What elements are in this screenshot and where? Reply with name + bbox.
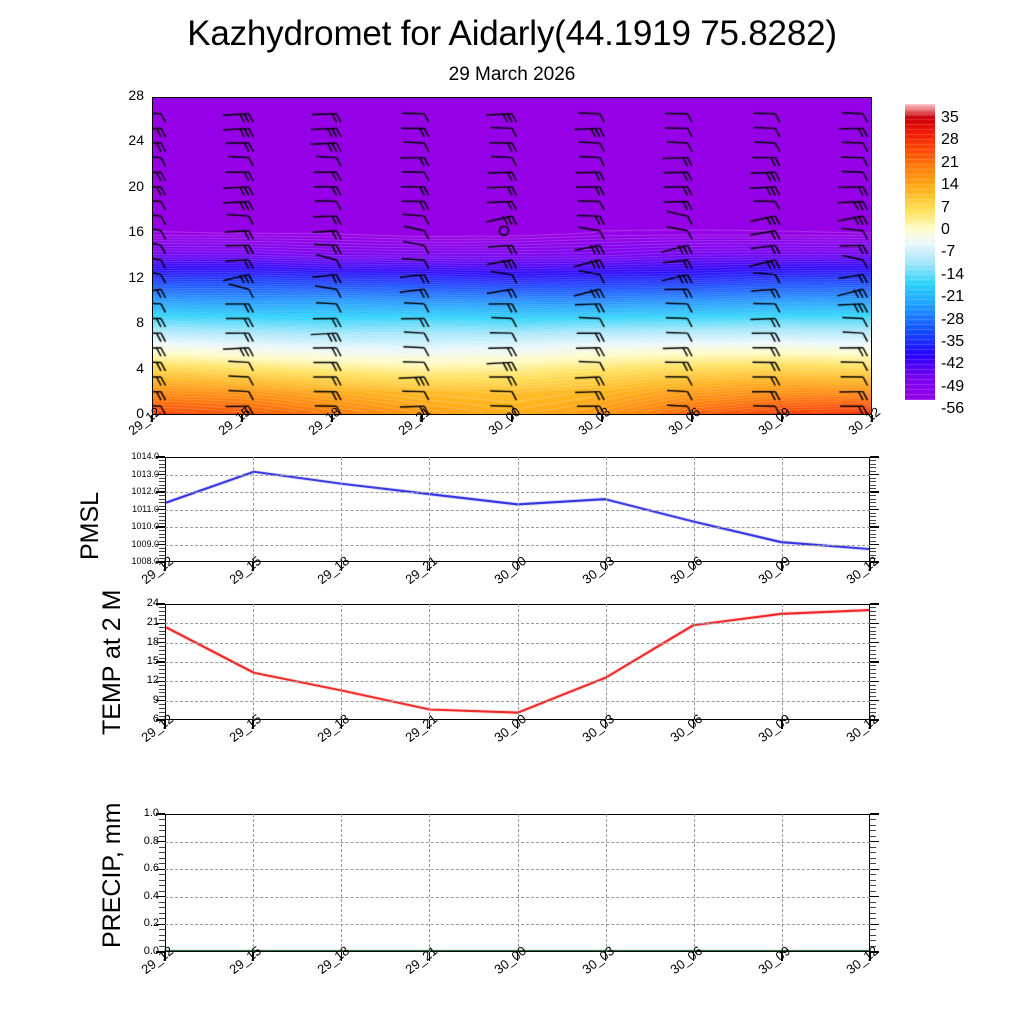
temp-at-2m-y-minor-tick — [870, 646, 876, 647]
pmsl-y-minor-tick — [159, 460, 165, 461]
temp-at-2m-y-minor-tick — [870, 611, 876, 612]
temp-at-2m-y-tick — [870, 642, 879, 643]
colorbar-tick-label: -49 — [941, 379, 964, 395]
pmsl-y-minor-tick — [870, 506, 876, 507]
pmsl-y-minor-tick — [870, 464, 876, 465]
pmsl-y-tick — [156, 456, 165, 457]
temp-at-2m-y-minor-tick — [159, 692, 165, 693]
pmsl-y-tick — [156, 509, 165, 510]
precip-y-minor-tick — [159, 819, 165, 820]
temp-at-2m-y-minor-tick — [870, 692, 876, 693]
precip-gridline-v — [694, 814, 695, 952]
pmsl-y-minor-tick — [159, 506, 165, 507]
precip-y-minor-tick — [159, 935, 165, 936]
pmsl-y-minor-tick — [870, 537, 876, 538]
temp-at-2m-y-minor-tick — [159, 658, 165, 659]
pmsl-y-minor-tick — [870, 467, 876, 468]
pmsl-y-tick — [870, 491, 879, 492]
pmsl-y-minor-tick — [159, 537, 165, 538]
temp-at-2m-y-minor-tick — [870, 658, 876, 659]
colorbar-tick-label: -28 — [941, 312, 964, 328]
pmsl-y-minor-tick — [870, 499, 876, 500]
pmsl-gridline-v — [253, 457, 254, 562]
temp-at-2m-y-minor-tick — [870, 708, 876, 709]
pmsl-y-tick-label: 1011.0 — [119, 504, 159, 515]
pmsl-y-minor-tick — [870, 485, 876, 486]
precip-y-tick — [870, 896, 879, 897]
colorbar-tick-label: 21 — [941, 155, 959, 171]
cross-section-frame — [152, 97, 872, 415]
pmsl-y-tick-label: 1012.0 — [119, 486, 159, 497]
precip-gridline-v — [518, 814, 519, 952]
precip-gridline-v — [429, 814, 430, 952]
cross-section-y-tick-label: 12 — [108, 272, 144, 283]
temp-at-2m-y-tick — [156, 700, 165, 701]
temp-at-2m-y-minor-tick — [159, 673, 165, 674]
colorbar-tick-label: -35 — [941, 334, 964, 350]
precip-y-tick — [870, 869, 879, 870]
pmsl-y-tick — [870, 526, 879, 527]
precip-y-minor-tick — [159, 940, 165, 941]
temp-at-2m-y-minor-tick — [159, 634, 165, 635]
temp-at-2m-y-minor-tick — [159, 708, 165, 709]
pmsl-y-minor-tick — [159, 530, 165, 531]
meteogram-page: Kazhydromet for Aidarly(44.1919 75.8282)… — [0, 0, 1024, 1024]
precip-y-tick — [156, 896, 165, 897]
pmsl-y-minor-tick — [159, 523, 165, 524]
precip-y-minor-tick — [870, 825, 876, 826]
pmsl-y-tick — [870, 544, 879, 545]
precip-y-minor-tick — [159, 907, 165, 908]
temp-at-2m-y-minor-tick — [159, 665, 165, 666]
temp-at-2m-y-minor-tick — [870, 689, 876, 690]
temp-at-2m-y-minor-tick — [870, 631, 876, 632]
pmsl-y-tick — [156, 544, 165, 545]
temp-axis-title: TEMP at 2 M — [100, 590, 125, 735]
pmsl-y-minor-tick — [159, 513, 165, 514]
pmsl-gridline-v — [694, 457, 695, 562]
precip-gridline-v — [253, 814, 254, 952]
precip-y-minor-tick — [870, 863, 876, 864]
precip-y-minor-tick — [159, 929, 165, 930]
pmsl-y-minor-tick — [870, 516, 876, 517]
temp-at-2m-y-minor-tick — [159, 704, 165, 705]
precip-axis-title: PRECIP, mm — [100, 803, 125, 948]
pmsl-y-minor-tick — [159, 464, 165, 465]
pmsl-y-minor-tick — [870, 478, 876, 479]
precip-y-minor-tick — [870, 907, 876, 908]
temp-at-2m-y-minor-tick — [159, 615, 165, 616]
pmsl-y-tick-label: 1014.0 — [119, 451, 159, 462]
pmsl-y-tick — [156, 526, 165, 527]
precip-y-minor-tick — [870, 891, 876, 892]
precip-gridline-v — [341, 814, 342, 952]
temp-at-2m-y-minor-tick — [159, 689, 165, 690]
colorbar-tick-label: -56 — [941, 401, 964, 417]
temp-at-2m-y-tick — [870, 661, 879, 662]
pmsl-y-minor-tick — [159, 478, 165, 479]
temp-at-2m-y-tick — [870, 700, 879, 701]
temp-at-2m-y-tick — [870, 681, 879, 682]
colorbar-tick-label: 14 — [941, 177, 959, 193]
pmsl-y-minor-tick — [159, 548, 165, 549]
pmsl-y-tick-label: 1009.0 — [119, 539, 159, 550]
pmsl-y-minor-tick — [870, 460, 876, 461]
temp-at-2m-y-minor-tick — [159, 696, 165, 697]
temp-at-2m-y-minor-tick — [159, 631, 165, 632]
temp-at-2m-y-minor-tick — [870, 619, 876, 620]
cross-section-y-tick-label: 24 — [108, 135, 144, 146]
pmsl-y-minor-tick — [159, 541, 165, 542]
cross-section-y-tick-label: 28 — [108, 90, 144, 101]
temp-at-2m-gridline-v — [253, 604, 254, 720]
precip-gridline-v — [782, 814, 783, 952]
pmsl-y-tick — [156, 491, 165, 492]
precip-y-minor-tick — [159, 825, 165, 826]
temp-at-2m-gridline-v — [341, 604, 342, 720]
cross-section-y-tick-label: 16 — [108, 226, 144, 237]
precip-y-minor-tick — [159, 858, 165, 859]
temp-at-2m-y-tick — [870, 623, 879, 624]
precip-y-minor-tick — [159, 891, 165, 892]
precip-y-minor-tick — [159, 880, 165, 881]
pmsl-y-minor-tick — [159, 516, 165, 517]
precip-y-minor-tick — [870, 880, 876, 881]
precip-y-minor-tick — [159, 852, 165, 853]
pmsl-y-minor-tick — [159, 551, 165, 552]
precip-y-minor-tick — [159, 902, 165, 903]
pmsl-y-minor-tick — [870, 548, 876, 549]
precip-y-minor-tick — [870, 918, 876, 919]
temp-at-2m-gridline-v — [429, 604, 430, 720]
pmsl-y-minor-tick — [870, 502, 876, 503]
temp-at-2m-y-minor-tick — [870, 654, 876, 655]
temp-at-2m-y-minor-tick — [159, 619, 165, 620]
pmsl-y-tick — [870, 509, 879, 510]
pmsl-y-minor-tick — [870, 530, 876, 531]
precip-gridline-v — [606, 814, 607, 952]
temp-at-2m-y-minor-tick — [159, 677, 165, 678]
temp-at-2m-y-minor-tick — [870, 673, 876, 674]
temp-at-2m-y-minor-tick — [870, 607, 876, 608]
pmsl-y-minor-tick — [870, 523, 876, 524]
pmsl-axis-title: PMSL — [78, 492, 103, 560]
precip-y-tick — [870, 813, 879, 814]
pmsl-y-minor-tick — [159, 502, 165, 503]
temp-at-2m-gridline-v — [606, 604, 607, 720]
precip-y-minor-tick — [870, 819, 876, 820]
precip-y-minor-tick — [870, 874, 876, 875]
pmsl-gridline-v — [782, 457, 783, 562]
pmsl-gridline-v — [429, 457, 430, 562]
pmsl-y-tick — [870, 474, 879, 475]
precip-y-minor-tick — [159, 836, 165, 837]
precip-y-minor-tick — [159, 885, 165, 886]
pmsl-y-minor-tick — [159, 495, 165, 496]
precip-y-minor-tick — [870, 830, 876, 831]
colorbar-tick-label: -14 — [941, 267, 964, 283]
colorbar — [905, 104, 935, 400]
cross-section-y-tick-label: 8 — [108, 317, 144, 328]
cross-section-y-tick-label: 4 — [108, 363, 144, 374]
precip-y-tick — [156, 813, 165, 814]
temp-at-2m-y-minor-tick — [870, 634, 876, 635]
cross-section-y-tick-label: 20 — [108, 181, 144, 192]
temp-at-2m-y-minor-tick — [159, 654, 165, 655]
temp-at-2m-y-tick — [156, 661, 165, 662]
colorbar-tick-label: -21 — [941, 289, 964, 305]
pmsl-y-minor-tick — [870, 541, 876, 542]
precip-y-minor-tick — [870, 913, 876, 914]
precip-y-minor-tick — [159, 874, 165, 875]
precip-y-minor-tick — [870, 935, 876, 936]
precip-y-tick — [870, 841, 879, 842]
page-title: Kazhydromet for Aidarly(44.1919 75.8282) — [0, 14, 1024, 54]
temp-at-2m-y-minor-tick — [159, 646, 165, 647]
precip-y-minor-tick — [870, 902, 876, 903]
pmsl-y-minor-tick — [159, 520, 165, 521]
temp-at-2m-y-minor-tick — [870, 685, 876, 686]
colorbar-tick-label: 0 — [941, 222, 950, 238]
temp-at-2m-y-minor-tick — [870, 638, 876, 639]
temp-at-2m-y-minor-tick — [870, 650, 876, 651]
pmsl-y-minor-tick — [159, 485, 165, 486]
temp-at-2m-y-minor-tick — [870, 627, 876, 628]
temp-at-2m-y-tick — [156, 623, 165, 624]
pmsl-y-minor-tick — [870, 513, 876, 514]
temp-at-2m-gridline-v — [694, 604, 695, 720]
colorbar-tick-label: -7 — [941, 244, 955, 260]
pmsl-y-tick — [156, 474, 165, 475]
temp-at-2m-y-tick — [156, 603, 165, 604]
pmsl-y-minor-tick — [159, 534, 165, 535]
pmsl-y-minor-tick — [870, 495, 876, 496]
colorbar-labels: 3528211470-7-14-21-28-35-42-49-56 — [941, 104, 1001, 404]
pmsl-y-minor-tick — [159, 481, 165, 482]
precip-y-tick — [156, 869, 165, 870]
pmsl-y-minor-tick — [870, 488, 876, 489]
colorbar-tick-label: 35 — [941, 110, 959, 126]
precip-y-minor-tick — [159, 863, 165, 864]
pmsl-y-tick — [870, 456, 879, 457]
temp-at-2m-y-minor-tick — [870, 696, 876, 697]
temp-at-2m-y-minor-tick — [870, 615, 876, 616]
temp-at-2m-y-minor-tick — [159, 650, 165, 651]
temp-at-2m-y-minor-tick — [159, 627, 165, 628]
precip-y-tick — [156, 841, 165, 842]
temp-at-2m-y-minor-tick — [159, 607, 165, 608]
precip-y-minor-tick — [870, 885, 876, 886]
pmsl-y-minor-tick — [870, 481, 876, 482]
temp-at-2m-y-minor-tick — [159, 669, 165, 670]
precip-y-minor-tick — [159, 913, 165, 914]
pmsl-y-minor-tick — [159, 467, 165, 468]
temp-at-2m-y-minor-tick — [870, 669, 876, 670]
temp-at-2m-y-minor-tick — [159, 611, 165, 612]
precip-y-tick — [156, 924, 165, 925]
temp-at-2m-y-minor-tick — [870, 665, 876, 666]
precip-y-tick — [870, 924, 879, 925]
temp-at-2m-y-minor-tick — [870, 677, 876, 678]
colorbar-tick-label: -42 — [941, 356, 964, 372]
precip-y-minor-tick — [870, 852, 876, 853]
precip-y-minor-tick — [159, 830, 165, 831]
temp-at-2m-y-tick — [870, 603, 879, 604]
pmsl-gridline-v — [341, 457, 342, 562]
pmsl-y-tick-label: 1013.0 — [119, 469, 159, 480]
page-subtitle: 29 March 2026 — [0, 64, 1024, 86]
precip-y-minor-tick — [159, 918, 165, 919]
pmsl-gridline-v — [606, 457, 607, 562]
precip-y-minor-tick — [870, 858, 876, 859]
pmsl-y-tick-label: 1010.0 — [119, 521, 159, 532]
temp-at-2m-gridline-v — [518, 604, 519, 720]
pmsl-y-minor-tick — [870, 520, 876, 521]
temp-at-2m-y-minor-tick — [159, 638, 165, 639]
precip-y-minor-tick — [870, 847, 876, 848]
temp-at-2m-y-tick — [156, 642, 165, 643]
colorbar-tick-label: 28 — [941, 132, 959, 148]
temp-at-2m-y-minor-tick — [159, 685, 165, 686]
temp-at-2m-y-minor-tick — [870, 704, 876, 705]
pmsl-y-minor-tick — [870, 551, 876, 552]
pmsl-gridline-v — [518, 457, 519, 562]
pmsl-y-minor-tick — [870, 534, 876, 535]
temp-at-2m-gridline-v — [782, 604, 783, 720]
precip-y-minor-tick — [870, 940, 876, 941]
temp-at-2m-y-tick — [156, 681, 165, 682]
colorbar-tick-label: 7 — [941, 200, 950, 216]
pmsl-y-minor-tick — [159, 488, 165, 489]
pmsl-y-minor-tick — [870, 471, 876, 472]
pmsl-y-minor-tick — [159, 471, 165, 472]
pmsl-y-minor-tick — [159, 499, 165, 500]
precip-y-minor-tick — [870, 836, 876, 837]
precip-y-minor-tick — [870, 929, 876, 930]
precip-y-minor-tick — [159, 847, 165, 848]
